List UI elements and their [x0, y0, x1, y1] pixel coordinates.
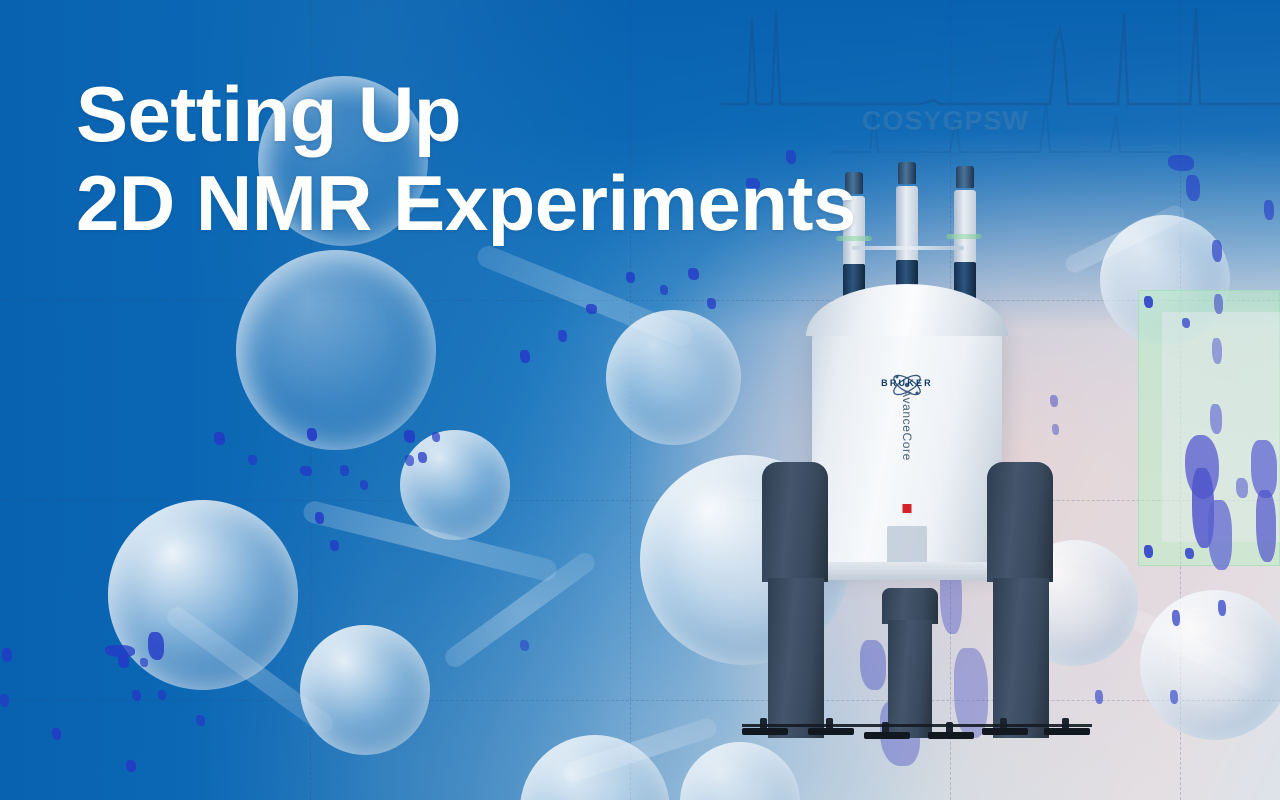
nmr-contour-peak [1052, 424, 1059, 435]
base-rail [742, 724, 1092, 727]
nmr-contour-peak [1218, 600, 1226, 616]
leg-foot-pad [928, 732, 974, 739]
model-name-label: AvanceCore [900, 389, 914, 461]
leg-foot-pad [742, 728, 788, 735]
front-panel-plate [887, 526, 927, 564]
page-title: Setting Up 2D NMR Experiments [76, 70, 856, 248]
support-leg [762, 462, 828, 582]
nmr-contour-peak [1172, 610, 1180, 626]
nmr-contour-peak [248, 455, 257, 465]
nmr-contour-peak [1050, 395, 1058, 407]
pulse-program-label: COSYGPSW [862, 106, 1029, 137]
leg-foot-pad [864, 732, 910, 739]
leg-foot-pad [808, 728, 854, 735]
nmr-magnet-body: BRUKER AvanceCore [812, 300, 1002, 565]
nmr-contour-peak [330, 540, 339, 551]
nmr-contour-peak [105, 645, 135, 657]
nmr-contour-peak [1208, 500, 1232, 570]
grid-line-horizontal [0, 500, 1280, 501]
bruker-wordmark: BRUKER [881, 378, 933, 388]
leg-foot-pad [982, 728, 1028, 735]
nmr-contour-peak [340, 465, 349, 476]
nmr-contour-peak [586, 304, 597, 314]
nmr-contour-peak [126, 760, 136, 772]
nmr-contour-peak [2, 648, 12, 662]
nmr-contour-peak [707, 298, 716, 309]
nmr-contour-peak [1256, 490, 1276, 562]
nmr-contour-peak [196, 715, 205, 726]
nmr-contour-peak [520, 350, 530, 363]
nmr-contour-peak [307, 428, 317, 441]
nmr-contour-peak [1264, 200, 1274, 220]
nmr-contour-peak [1170, 690, 1178, 704]
nmr-contour-peak [1182, 318, 1190, 328]
nmr-contour-peak [405, 455, 414, 466]
nmr-contour-peak [214, 432, 225, 445]
grid-line-horizontal [0, 700, 1280, 701]
nmr-contour-peak [140, 658, 148, 667]
support-leg [888, 620, 932, 738]
nmr-contour-peak [860, 640, 886, 690]
nmr-contour-peak [1095, 690, 1103, 704]
nmr-contour-peak [158, 690, 166, 700]
support-leg [768, 578, 824, 738]
nmr-contour-peak [1236, 478, 1248, 498]
nmr-contour-peak [1214, 294, 1223, 314]
nmr-contour-peak [315, 512, 324, 524]
nmr-contour-peak [1210, 404, 1222, 434]
port-crossbar [852, 246, 964, 250]
hero-banner: COSYGPSW [0, 0, 1280, 800]
nmr-contour-peak [1144, 296, 1153, 308]
nmr-contour-peak [1168, 155, 1194, 171]
nmr-contour-peak [0, 694, 9, 707]
nmr-contour-peak [1212, 240, 1222, 262]
nmr-contour-peak [1144, 545, 1153, 558]
nmr-contour-peak [432, 432, 440, 442]
nmr-contour-peak [626, 272, 635, 283]
valve-handle[interactable] [946, 234, 982, 239]
nmr-contour-peak [558, 330, 567, 342]
nmr-contour-peak [688, 268, 699, 280]
nmr-contour-peak [360, 480, 368, 490]
page-title-line-2: 2D NMR Experiments [76, 159, 856, 248]
nmr-contour-peak [300, 466, 312, 476]
support-leg [882, 588, 938, 624]
nmr-contour-peak [52, 728, 61, 740]
nmr-contour-peak [1185, 548, 1194, 559]
support-leg [987, 462, 1053, 582]
nmr-contour-peak [148, 632, 164, 660]
support-leg [993, 578, 1049, 738]
leg-foot-pad [1044, 728, 1090, 735]
page-title-line-1: Setting Up [76, 70, 461, 158]
nmr-contour-peak [1212, 338, 1222, 364]
model-red-square-marker [903, 504, 912, 513]
nmr-contour-peak [1186, 175, 1200, 201]
nmr-contour-peak [404, 430, 415, 443]
nmr-contour-peak [418, 452, 427, 463]
grid-line-horizontal [0, 300, 1280, 301]
nmr-contour-peak [132, 690, 141, 701]
nmr-contour-peak [520, 640, 529, 651]
nmr-contour-peak [660, 285, 668, 295]
